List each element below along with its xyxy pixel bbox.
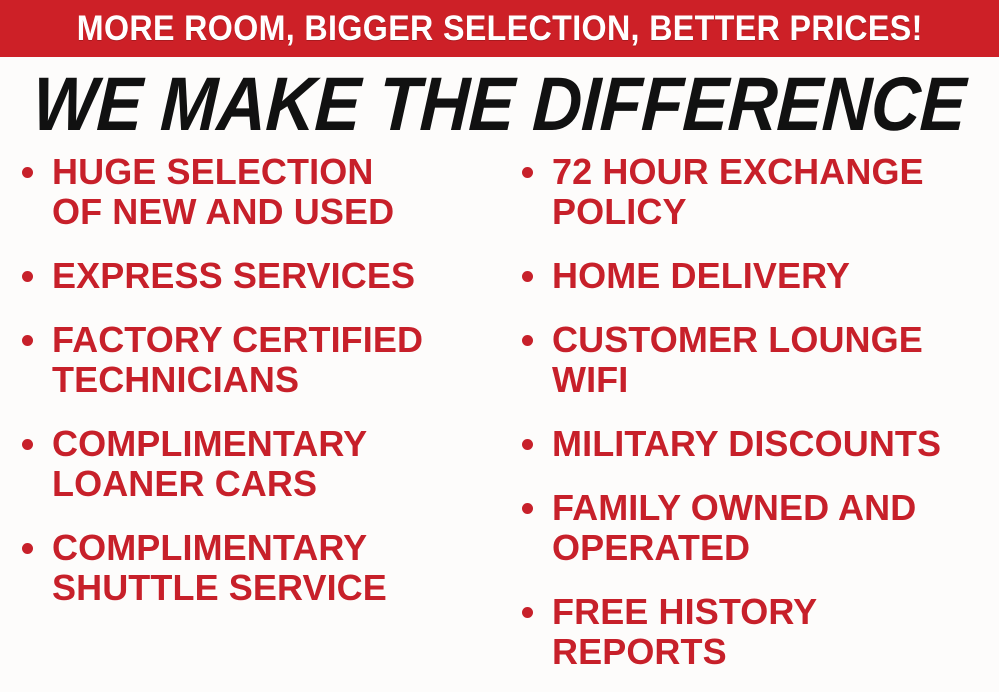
list-item-label: HOME DELIVERY (552, 256, 997, 296)
list-item: FAMILY OWNED AND OPERATED (514, 488, 997, 568)
headline-region: WE MAKE THE DIFFERENCE (0, 66, 999, 144)
list-item-label: FREE HISTORY REPORTS (552, 592, 997, 672)
benefits-column-left: HUGE SELECTION OF NEW AND USED EXPRESS S… (0, 152, 500, 608)
promo-poster: MORE ROOM, BIGGER SELECTION, BETTER PRIC… (0, 0, 999, 692)
list-item-label: FACTORY CERTIFIED TECHNICIANS (52, 320, 496, 400)
list-item-label: 72 HOUR EXCHANGE POLICY (552, 152, 997, 232)
list-item: COMPLIMENTARY SHUTTLE SERVICE (14, 528, 496, 608)
list-item-label: COMPLIMENTARY SHUTTLE SERVICE (52, 528, 496, 608)
bullet-dot-icon (22, 335, 33, 346)
bullet-dot-icon (22, 439, 33, 450)
bullet-dot-icon (522, 439, 533, 450)
bullet-dot-icon (522, 503, 533, 514)
list-item: 72 HOUR EXCHANGE POLICY (514, 152, 997, 232)
list-item: COMPLIMENTARY LOANER CARS (14, 424, 496, 504)
bullet-dot-icon (522, 335, 533, 346)
list-item-label: MILITARY DISCOUNTS (552, 424, 997, 464)
bullet-dot-icon (22, 543, 33, 554)
benefits-column-right: 72 HOUR EXCHANGE POLICY HOME DELIVERY CU… (500, 152, 999, 672)
list-item-label: FAMILY OWNED AND OPERATED (552, 488, 997, 568)
bullet-dot-icon (522, 167, 533, 178)
page-title: WE MAKE THE DIFFERENCE (31, 66, 967, 144)
bullet-dot-icon (22, 271, 33, 282)
list-item: FREE HISTORY REPORTS (514, 592, 997, 672)
bullet-dot-icon (522, 271, 533, 282)
list-item: FACTORY CERTIFIED TECHNICIANS (14, 320, 496, 400)
benefits-list-left: HUGE SELECTION OF NEW AND USED EXPRESS S… (14, 152, 496, 608)
list-item: EXPRESS SERVICES (14, 256, 496, 296)
list-item: CUSTOMER LOUNGE WIFI (514, 320, 997, 400)
benefits-columns: HUGE SELECTION OF NEW AND USED EXPRESS S… (0, 152, 999, 692)
list-item-label: CUSTOMER LOUNGE WIFI (552, 320, 997, 400)
list-item: HOME DELIVERY (514, 256, 997, 296)
list-item-label: COMPLIMENTARY LOANER CARS (52, 424, 496, 504)
bullet-dot-icon (522, 607, 533, 618)
list-item: HUGE SELECTION OF NEW AND USED (14, 152, 496, 232)
banner-headline-text: MORE ROOM, BIGGER SELECTION, BETTER PRIC… (77, 11, 923, 47)
benefits-list-right: 72 HOUR EXCHANGE POLICY HOME DELIVERY CU… (514, 152, 997, 672)
list-item-label: EXPRESS SERVICES (52, 256, 496, 296)
list-item-label: HUGE SELECTION OF NEW AND USED (52, 152, 496, 232)
list-item: MILITARY DISCOUNTS (514, 424, 997, 464)
top-banner: MORE ROOM, BIGGER SELECTION, BETTER PRIC… (0, 0, 999, 57)
bullet-dot-icon (22, 167, 33, 178)
